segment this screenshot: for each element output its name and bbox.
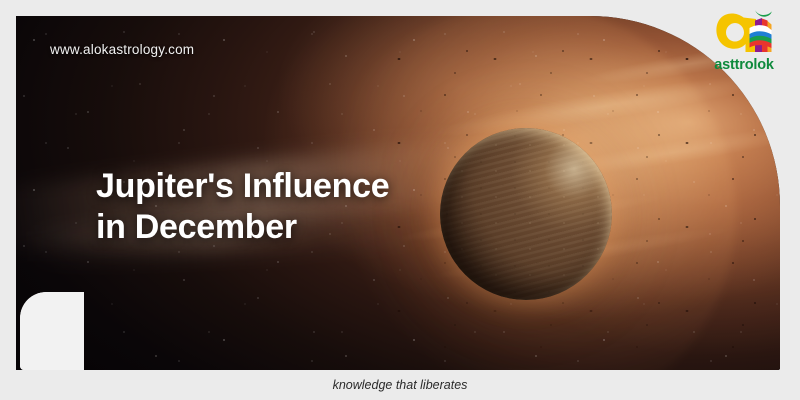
jupiter-planet [440,128,612,300]
planet-limb-highlight [440,128,612,300]
avatar[interactable] [20,292,84,370]
brand-wordmark: asttrolok [702,57,786,73]
headline-line-1: Jupiter's Influence [96,166,426,207]
planet-sphere [440,128,612,300]
asttrolok-mark-icon [713,8,775,56]
headline-line-2: in December [96,207,426,248]
site-url-label: www.alokastrology.com [50,42,194,57]
page-title: Jupiter's Influence in December [96,166,426,249]
banner-canvas: www.alokastrology.com Jupiter's Influenc… [0,0,800,400]
brand-logo[interactable]: asttrolok [702,8,786,82]
avatar-background [20,292,84,370]
space-banner-card: www.alokastrology.com Jupiter's Influenc… [16,16,780,370]
tagline: knowledge that liberates [0,378,800,392]
